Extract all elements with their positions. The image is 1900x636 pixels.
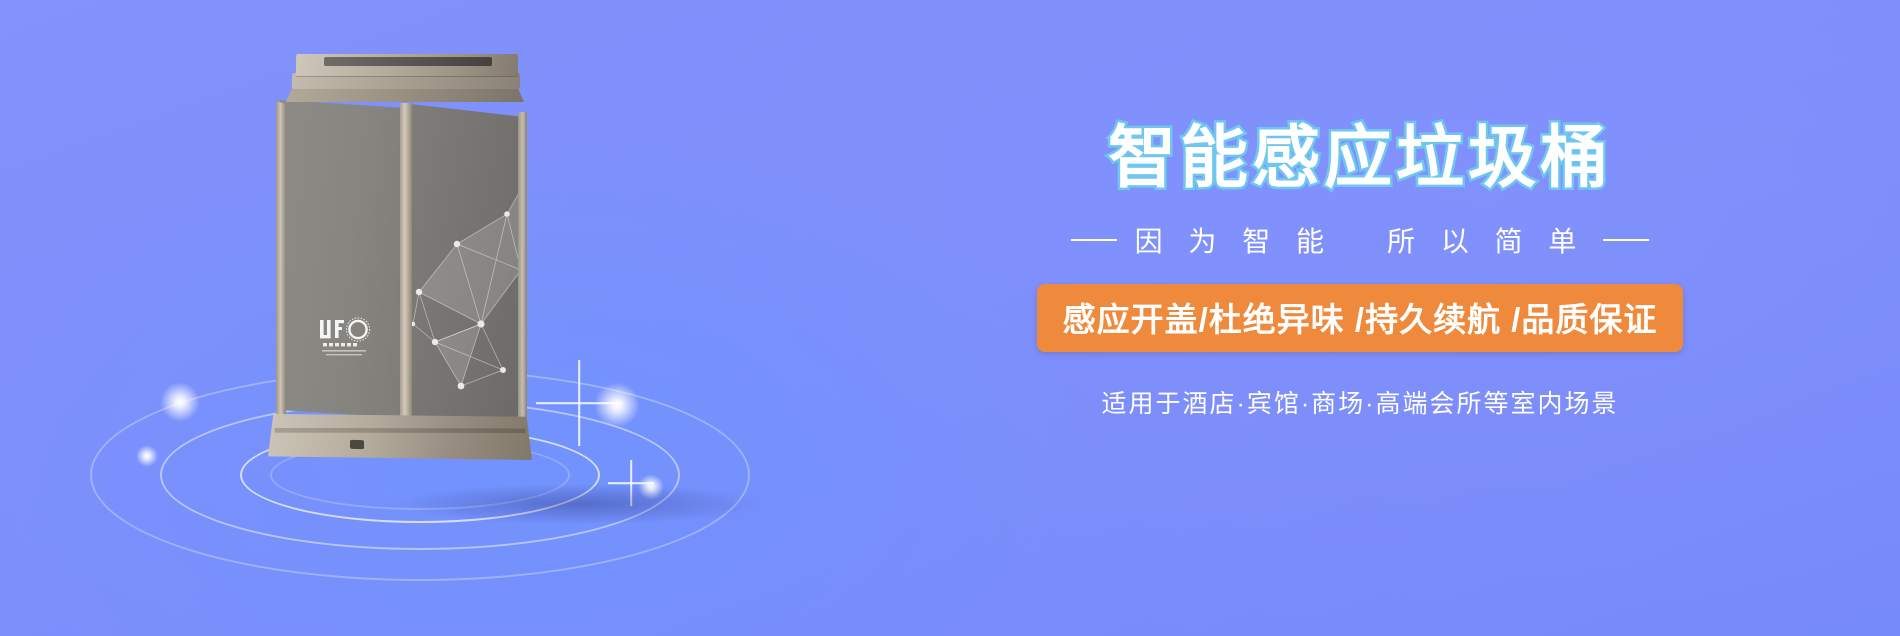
promo-banner: 智能感应垃圾桶 因 为 智 能 所 以 简 单 感应开盖/杜绝异味 /持久续航 … (0, 0, 1900, 636)
low-poly-graphic (411, 174, 529, 414)
subline: 因 为 智 能 所 以 简 单 (880, 220, 1840, 260)
bin-lid-opening (324, 57, 492, 66)
bin-trim-left (276, 101, 286, 417)
feature-tag-bar: 感应开盖/杜绝异味 /持久续航 /品质保证 (1037, 284, 1684, 352)
product-stage (60, 30, 780, 606)
subline-part-1: 因 为 智 能 (1135, 220, 1333, 260)
sparkle-icon (160, 382, 200, 422)
bin-trim-right (518, 112, 527, 422)
bin-panel-left (280, 100, 406, 418)
subline-part-2: 所 以 简 单 (1387, 220, 1585, 260)
usage-scenes-text: 适用于酒店·宾馆·商场·高端会所等室内场景 (880, 384, 1840, 420)
ufo-brand-logo (318, 316, 380, 362)
copy-block: 智能感应垃圾桶 因 为 智 能 所 以 简 单 感应开盖/杜绝异味 /持久续航 … (880, 120, 1840, 420)
bin-base-latch (350, 440, 364, 449)
product-shadow (400, 484, 760, 524)
product-trash-can (250, 54, 550, 464)
subline-dash-left (1071, 239, 1117, 241)
sparkle-icon (136, 445, 158, 467)
bin-base (268, 414, 532, 460)
bin-base-groove (272, 428, 528, 433)
bin-trim-center (400, 103, 412, 423)
sparkle-icon (594, 382, 640, 428)
subline-dash-right (1603, 239, 1649, 241)
headline: 智能感应垃圾桶 (880, 120, 1840, 196)
